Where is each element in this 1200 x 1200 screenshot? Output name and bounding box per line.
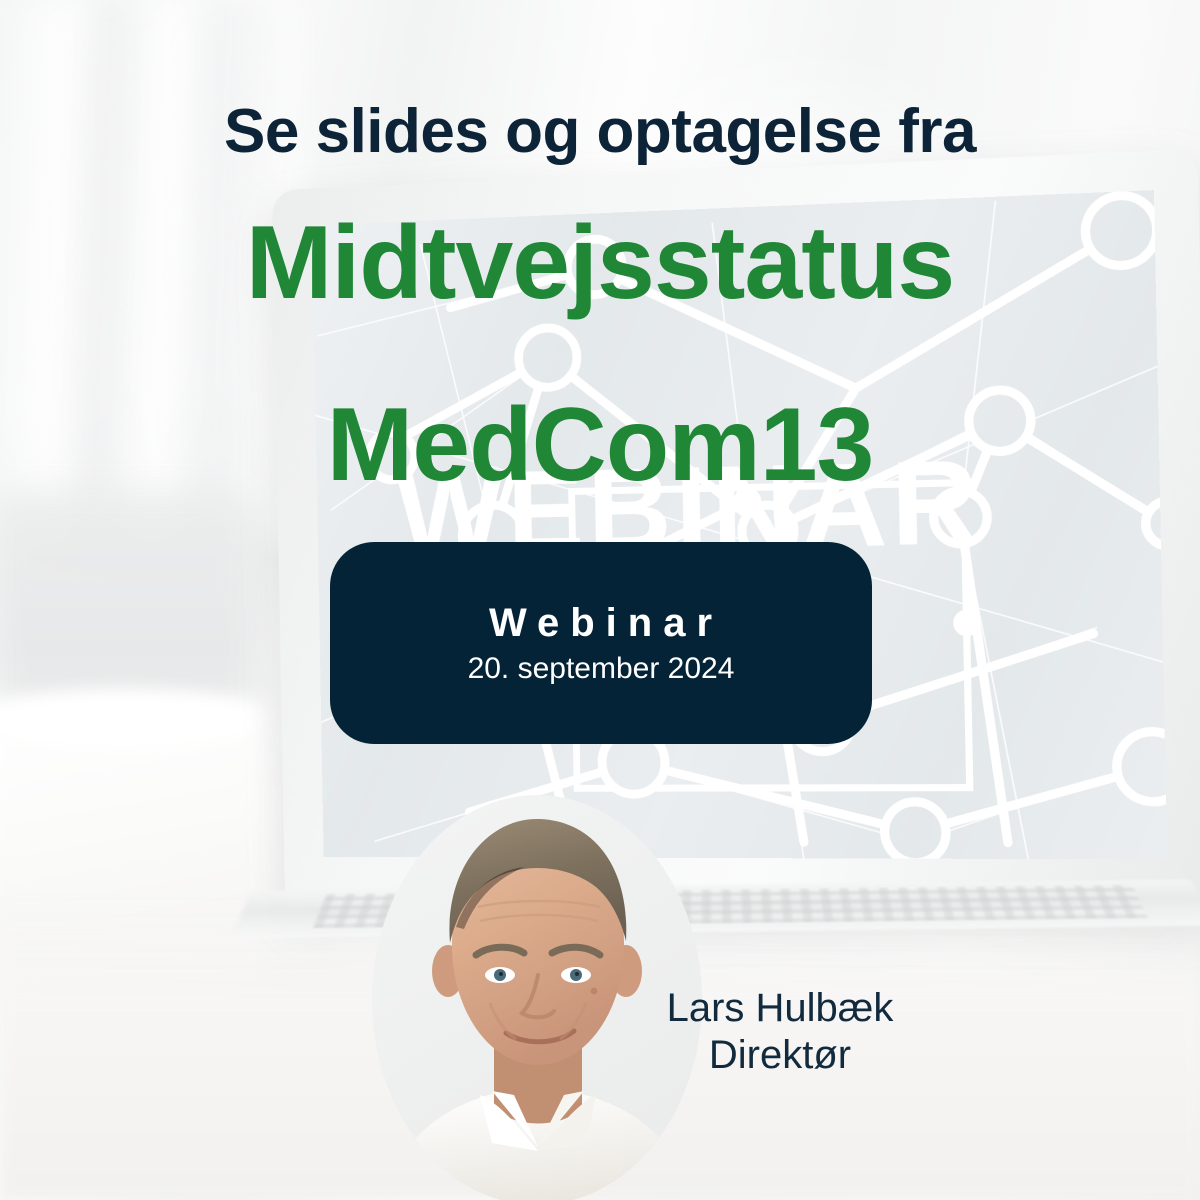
speaker-name: Lars Hulbæk (600, 985, 960, 1032)
speaker-role: Direktør (600, 1032, 960, 1079)
speaker-caption: Lars Hulbæk Direktør (600, 985, 960, 1079)
coffee-cup-rim (0, 690, 260, 750)
badge-title: Webinar (489, 601, 723, 646)
webinar-badge: Webinar 20. september 2024 (330, 542, 872, 744)
badge-date: 20. september 2024 (468, 652, 735, 686)
headline-line-1: Midtvejsstatus (0, 204, 1200, 323)
headline-kicker: Se slides og optagelse fra (0, 96, 1200, 167)
headline-line-2: MedCom13 (0, 386, 1200, 505)
promo-card: WEBINAR Se slides og optagelse fra Midtv… (0, 0, 1200, 1200)
